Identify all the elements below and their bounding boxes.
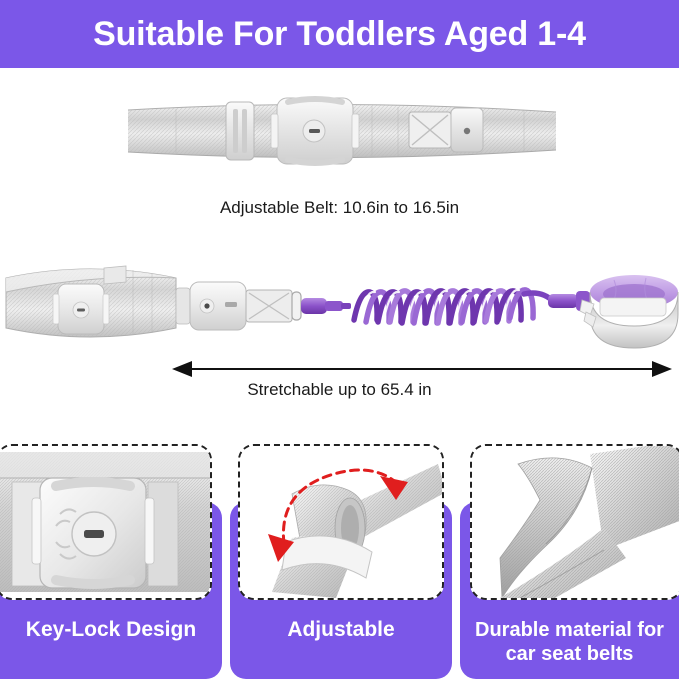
feature-caption-adjustable: Adjustable bbox=[230, 618, 452, 642]
stretch-caption: Stretchable up to 65.4 in bbox=[0, 380, 679, 400]
feature-caption-line-2: car seat belts bbox=[460, 642, 679, 666]
buckle-key-lock-closeup bbox=[0, 444, 212, 600]
seat-belt-webbing-closeup bbox=[470, 444, 679, 600]
feature-panel-durable-material[interactable]: Durable material for car seat belts bbox=[460, 430, 679, 679]
connector-buckle bbox=[176, 282, 301, 330]
page-title: Suitable For Toddlers Aged 1-4 bbox=[93, 15, 586, 54]
feature-panel-key-lock[interactable]: Key-Lock Design bbox=[0, 430, 222, 679]
coiled-cable bbox=[352, 290, 554, 326]
tri-glide-adjuster bbox=[226, 102, 254, 160]
belt-with-coiled-wrist-link-photo bbox=[0, 248, 679, 360]
feature-panels: Key-Lock Design bbox=[0, 430, 679, 679]
arrow-head-left bbox=[172, 361, 192, 377]
feature-caption-line-1: Key-Lock Design bbox=[26, 618, 196, 641]
feature-caption-line-1: Durable material for bbox=[475, 619, 664, 641]
feature-caption-durable-material: Durable material for car seat belts bbox=[460, 618, 679, 666]
loop-buckle bbox=[53, 284, 109, 334]
wrist-cuff bbox=[580, 275, 678, 348]
arrow-head-right bbox=[652, 361, 672, 377]
header-banner: Suitable For Toddlers Aged 1-4 bbox=[0, 0, 679, 68]
adjustable-belt-photo bbox=[0, 78, 679, 198]
stretch-dimension-arrow bbox=[0, 356, 679, 382]
feature-caption-line-1: Adjustable bbox=[287, 618, 394, 641]
x-stitch-keeper bbox=[409, 108, 483, 152]
adjustable-belt-caption: Adjustable Belt: 10.6in to 16.5in bbox=[0, 198, 679, 218]
strap-adjustment-closeup bbox=[238, 444, 444, 600]
looped-belt bbox=[6, 266, 176, 337]
feature-panel-adjustable[interactable]: Adjustable bbox=[230, 430, 452, 679]
feature-caption-key-lock: Key-Lock Design bbox=[0, 618, 222, 642]
side-release-buckle bbox=[271, 98, 359, 164]
